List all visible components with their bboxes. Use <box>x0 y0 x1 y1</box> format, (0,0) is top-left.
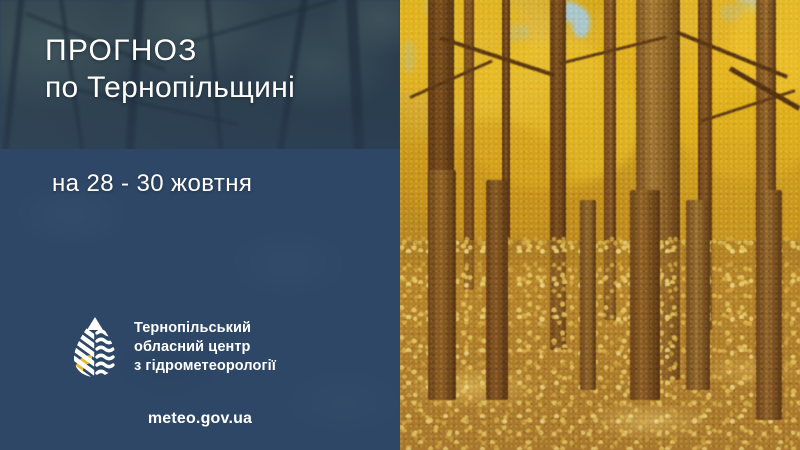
date-range-label: на 28 - 30 жовтня <box>52 170 252 198</box>
website-url[interactable]: meteo.gov.ua <box>0 410 400 428</box>
forecast-banner: ПРОГНОЗ по Тернопільщині на 28 - 30 жовт… <box>0 0 800 450</box>
organisation-name: Тернопільський обласний центр з гідромет… <box>134 319 276 376</box>
organisation-logo-lockup: Тернопільський обласний центр з гідромет… <box>70 316 276 378</box>
water-droplet-logo-icon <box>70 316 120 378</box>
page-title: ПРОГНОЗ по Тернопільщині <box>45 32 295 106</box>
logo-text-line-1: Тернопільський <box>134 319 276 338</box>
left-text-panel: ПРОГНОЗ по Тернопільщині на 28 - 30 жовт… <box>0 0 400 450</box>
logo-text-line-3: з гідрометеорології <box>134 357 276 376</box>
logo-text-line-2: обласний центр <box>134 338 276 357</box>
headline-line-2: по Тернопільщині <box>45 69 295 106</box>
autumn-forest-photo <box>400 0 800 450</box>
headline-line-1: ПРОГНОЗ <box>45 32 295 69</box>
